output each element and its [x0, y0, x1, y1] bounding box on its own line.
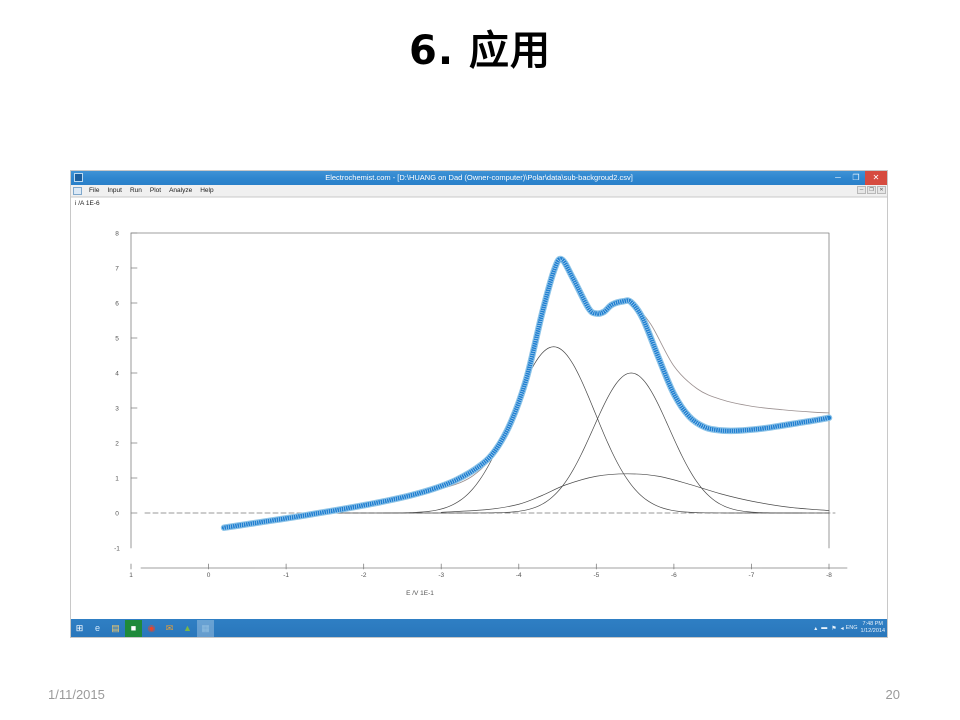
- electrochemist-app-icon[interactable]: ▦: [197, 620, 214, 637]
- menu-item-input[interactable]: Input: [103, 185, 125, 196]
- svg-text:1: 1: [129, 572, 133, 579]
- menu-item-file[interactable]: File: [85, 185, 103, 196]
- mdi-close-button[interactable]: ✕: [877, 186, 886, 194]
- google-chrome-icon[interactable]: ◉: [143, 620, 160, 637]
- svg-text:1: 1: [115, 476, 119, 483]
- maximize-button[interactable]: ❐: [847, 171, 865, 185]
- action-center-icon[interactable]: ⚑: [831, 625, 836, 632]
- svg-text:-1: -1: [283, 572, 289, 579]
- svg-text:0: 0: [115, 511, 119, 518]
- menu-bar: File Input Run Plot Analyze Help ─ ❐ ✕: [71, 185, 887, 197]
- close-button[interactable]: ✕: [865, 171, 887, 185]
- volume-icon[interactable]: ◂: [841, 625, 844, 632]
- system-tray: ▴ ▬ ⚑ ◂ ENG 7:48 PM 1/12/2014: [812, 619, 885, 637]
- menu-item-help[interactable]: Help: [196, 185, 217, 196]
- svg-text:-1: -1: [114, 546, 120, 553]
- window-controls: ─ ❐ ✕: [829, 171, 887, 185]
- svg-text:-5: -5: [593, 572, 599, 579]
- svg-text:2: 2: [115, 441, 119, 448]
- svg-text:0: 0: [207, 572, 211, 579]
- clock[interactable]: 7:48 PM 1/12/2014: [861, 621, 885, 635]
- menu-item-plot[interactable]: Plot: [146, 185, 165, 196]
- menu-item-run[interactable]: Run: [126, 185, 146, 196]
- file-explorer-icon[interactable]: ▤: [107, 620, 124, 637]
- svg-text:-4: -4: [516, 572, 522, 579]
- svg-text:8: 8: [115, 231, 119, 238]
- mdi-minimize-button[interactable]: ─: [857, 186, 866, 194]
- language-indicator[interactable]: ENG: [846, 625, 858, 631]
- show-hidden-icons-icon[interactable]: ▴: [814, 625, 817, 632]
- voltammogram-chart: 876543210-110-1-2-3-4-5-6-7-8E /V 1E-1: [71, 198, 888, 623]
- page-title: 6. 应用: [0, 18, 960, 76]
- windows-taskbar: ⊞ e ▤ ■ ◉ ✉ ▲ ▦ ▴ ▬ ⚑ ◂ ENG 7:48 PM 1/12…: [71, 619, 887, 637]
- mdi-child-controls: ─ ❐ ✕: [857, 186, 886, 194]
- svg-text:7: 7: [115, 266, 119, 273]
- window-title-text: Electrochemist.com - [D:\HUANG on Dad (O…: [71, 171, 887, 185]
- system-menu-icon[interactable]: [73, 187, 82, 195]
- svg-text:-3: -3: [438, 572, 444, 579]
- minimize-button[interactable]: ─: [829, 171, 847, 185]
- clock-time: 7:48 PM: [863, 621, 883, 627]
- network-icon[interactable]: ▬: [821, 625, 827, 631]
- svg-text:-8: -8: [826, 572, 832, 579]
- application-screenshot: Electrochemist.com - [D:\HUANG on Dad (O…: [70, 170, 888, 638]
- menu-item-analyze[interactable]: Analyze: [165, 185, 196, 196]
- mdi-restore-button[interactable]: ❐: [867, 186, 876, 194]
- start-button-icon[interactable]: ⊞: [71, 620, 88, 637]
- slide-page-number: 20: [886, 687, 900, 702]
- svg-text:-7: -7: [749, 572, 755, 579]
- mail-app-icon[interactable]: ✉: [161, 620, 178, 637]
- slide-footer-date: 1/11/2015: [48, 687, 105, 702]
- svg-text:3: 3: [115, 406, 119, 413]
- svg-text:4: 4: [115, 371, 119, 378]
- clock-date: 1/12/2014: [861, 628, 885, 634]
- internet-explorer-icon[interactable]: e: [89, 620, 106, 637]
- window-title-bar: Electrochemist.com - [D:\HUANG on Dad (O…: [71, 171, 887, 185]
- svg-text:E /V 1E-1: E /V 1E-1: [406, 590, 434, 597]
- svg-text:6: 6: [115, 301, 119, 308]
- windows-store-icon[interactable]: ■: [125, 620, 142, 637]
- plot-document-area[interactable]: i /A 1E-6 876543210-110-1-2-3-4-5-6-7-8E…: [71, 197, 887, 621]
- svg-text:-6: -6: [671, 572, 677, 579]
- svg-text:-2: -2: [361, 572, 367, 579]
- svg-text:5: 5: [115, 336, 119, 343]
- photos-app-icon[interactable]: ▲: [179, 620, 196, 637]
